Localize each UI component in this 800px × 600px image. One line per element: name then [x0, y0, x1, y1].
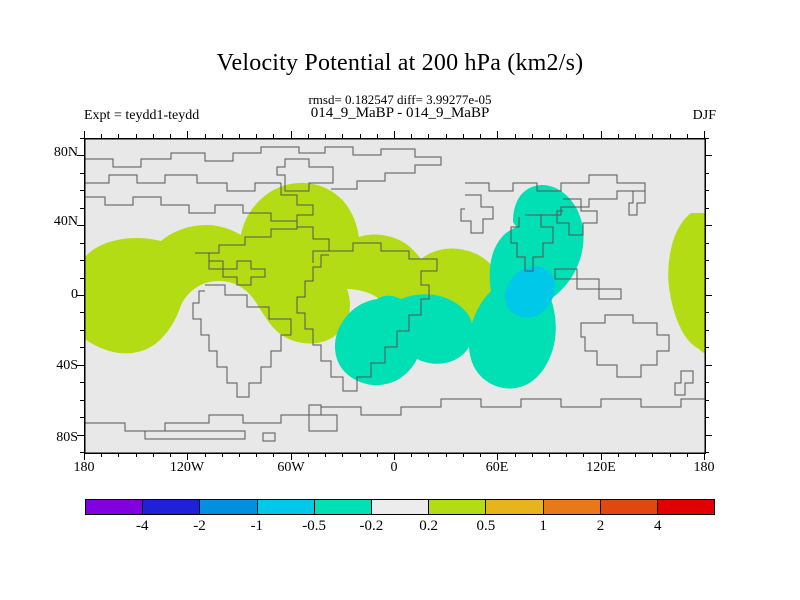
xtick-mark--60	[291, 453, 292, 460]
ytick-mark--50	[80, 382, 84, 383]
xtick-label-60w: 60W	[277, 460, 304, 476]
ytick-mark-right-80	[705, 155, 712, 156]
ytick-mark-right--60	[705, 400, 709, 401]
xtick-mark-150	[652, 453, 653, 457]
ytick-mark--10	[80, 312, 84, 313]
xtick-label-180w: 180	[74, 460, 95, 476]
xtick-mark--90	[239, 453, 240, 457]
ytick-label-40s: 40S	[56, 358, 78, 374]
xtick-label-120e: 120E	[586, 460, 616, 476]
xtick-mark-top--130	[170, 134, 171, 138]
xtick-mark--50	[308, 453, 309, 457]
ytick-mark-40	[77, 225, 84, 226]
xtick-mark--120	[187, 453, 188, 460]
ytick-mark-right--50	[705, 382, 709, 383]
ytick-mark--80	[77, 435, 84, 436]
xtick-mark--30	[342, 453, 343, 457]
ytick-mark-30	[80, 243, 84, 244]
xtick-mark-top-100	[566, 134, 567, 138]
ytick-mark-right-40	[705, 225, 712, 226]
colorbar-tick-neg1: -1	[251, 518, 264, 535]
colorbar-tick-2: 2	[597, 518, 605, 535]
xtick-mark-top-140	[635, 134, 636, 138]
colorbar-tick-0_2: 0.2	[419, 518, 438, 535]
ytick-mark-right-10	[705, 278, 709, 279]
xtick-mark-top-110	[583, 134, 584, 138]
colorbar-band-1	[142, 500, 199, 514]
ytick-mark--90	[80, 452, 84, 453]
xtick-mark-top--80	[256, 134, 257, 138]
xtick-mark-top-40	[463, 134, 464, 138]
colorbar-band-8	[543, 500, 600, 514]
ytick-mark-right-0	[705, 295, 712, 296]
xtick-mark-60	[497, 453, 498, 460]
xtick-mark-top-60	[497, 131, 498, 138]
ytick-mark-right--70	[705, 417, 709, 418]
xtick-mark-40	[463, 453, 464, 457]
xtick-mark-50	[480, 453, 481, 457]
colorbar-band-5	[371, 500, 428, 514]
page-title: Velocity Potential at 200 hPa (km2/s)	[0, 50, 800, 77]
xtick-mark--100	[222, 453, 223, 457]
colorbar-tick-neg2: -2	[193, 518, 206, 535]
xtick-mark--70	[273, 453, 274, 457]
xtick-mark--170	[101, 453, 102, 457]
colorbar-tick-neg0_2: -0.2	[359, 518, 383, 535]
ytick-mark-right--30	[705, 347, 709, 348]
xtick-mark-80	[532, 453, 533, 457]
xtick-mark--160	[118, 453, 119, 457]
xtick-label-180e: 180	[694, 460, 715, 476]
ytick-mark-80	[77, 155, 84, 156]
xtick-mark--130	[170, 453, 171, 457]
xtick-mark-top-30	[446, 134, 447, 138]
xtick-label-60e: 60E	[486, 460, 509, 476]
xtick-mark-120	[601, 453, 602, 460]
xtick-mark-100	[566, 453, 567, 457]
colorbar-band-0	[86, 500, 142, 514]
experiment-label: Expt = teydd1-teydd	[84, 108, 199, 124]
xtick-mark-top-150	[652, 134, 653, 138]
colorbar-band-6	[428, 500, 485, 514]
ytick-mark-right-30	[705, 243, 709, 244]
colorbar-band-9	[600, 500, 657, 514]
xtick-mark-70	[515, 453, 516, 457]
xtick-mark--80	[256, 453, 257, 457]
xtick-mark-top--10	[377, 134, 378, 138]
xtick-mark-10	[411, 453, 412, 457]
xtick-mark-0	[394, 453, 395, 460]
xtick-mark-top--60	[291, 131, 292, 138]
xtick-mark-top--70	[273, 134, 274, 138]
xtick-mark-top--120	[187, 131, 188, 138]
xtick-mark-130	[618, 453, 619, 457]
ytick-mark-right--80	[705, 435, 712, 436]
xtick-mark-top--110	[205, 134, 206, 138]
xtick-mark-top--180	[84, 131, 85, 138]
ytick-mark-right-90	[705, 138, 709, 139]
xtick-mark-140	[635, 453, 636, 457]
xtick-mark-110	[583, 453, 584, 457]
xtick-mark-top--150	[136, 134, 137, 138]
ytick-mark-50	[80, 208, 84, 209]
xtick-mark--180	[84, 453, 85, 460]
xtick-mark-top--20	[360, 134, 361, 138]
colorbar	[85, 499, 715, 515]
ytick-label-80s: 80S	[56, 430, 78, 446]
xtick-mark--10	[377, 453, 378, 457]
xtick-mark-top--140	[153, 134, 154, 138]
xtick-mark-top-80	[532, 134, 533, 138]
colorbar-band-3	[257, 500, 314, 514]
xtick-mark-top-160	[670, 134, 671, 138]
ytick-mark--40	[77, 365, 84, 366]
xtick-mark-top--40	[325, 134, 326, 138]
ytick-mark-10	[80, 278, 84, 279]
colorbar-tick-neg4: -4	[136, 518, 149, 535]
xtick-mark-top-0	[394, 131, 395, 138]
xtick-mark-top--100	[222, 134, 223, 138]
ytick-mark--30	[80, 347, 84, 348]
colorbar-band-4	[314, 500, 371, 514]
ytick-mark-right--20	[705, 330, 709, 331]
xtick-mark--40	[325, 453, 326, 457]
ytick-mark-right-20	[705, 260, 709, 261]
ytick-mark--60	[80, 400, 84, 401]
ytick-mark-70	[80, 173, 84, 174]
xtick-mark-top-180	[704, 131, 705, 138]
ytick-mark-90	[80, 138, 84, 139]
xtick-label-0: 0	[391, 460, 398, 476]
ytick-mark-60	[80, 190, 84, 191]
xtick-mark-top-120	[601, 131, 602, 138]
xtick-mark-90	[549, 453, 550, 457]
colorbar-tick-0_5: 0.5	[477, 518, 496, 535]
xtick-mark-top--170	[101, 134, 102, 138]
xtick-mark-top--30	[342, 134, 343, 138]
ytick-mark-right-60	[705, 190, 709, 191]
colorbar-tick-4: 4	[654, 518, 662, 535]
ytick-mark-right-70	[705, 173, 709, 174]
xtick-label-120w: 120W	[170, 460, 204, 476]
xtick-mark--150	[136, 453, 137, 457]
xtick-mark--110	[205, 453, 206, 457]
xtick-mark-top-130	[618, 134, 619, 138]
xtick-mark-top-10	[411, 134, 412, 138]
colorbar-band-2	[199, 500, 256, 514]
xtick-mark--20	[360, 453, 361, 457]
ytick-mark-right--10	[705, 312, 709, 313]
colorbar-band-10	[657, 500, 714, 514]
ytick-mark--70	[80, 417, 84, 418]
map-plot-area	[84, 138, 706, 454]
colorbar-tick-neg0_5: -0.5	[302, 518, 326, 535]
xtick-mark-180	[704, 453, 705, 460]
ytick-mark-right--40	[705, 365, 712, 366]
xtick-mark-30	[446, 453, 447, 457]
xtick-mark-160	[670, 453, 671, 457]
colorbar-tick-1: 1	[539, 518, 547, 535]
ytick-label-80n: 80N	[54, 145, 78, 161]
ytick-label-40n: 40N	[54, 214, 78, 230]
season-label: DJF	[693, 108, 716, 124]
ytick-mark--20	[80, 330, 84, 331]
xtick-mark-top-20	[428, 134, 429, 138]
xtick-mark-top-90	[549, 134, 550, 138]
xtick-mark-top-70	[515, 134, 516, 138]
colorbar-band-7	[485, 500, 542, 514]
ytick-mark-right--90	[705, 452, 709, 453]
xtick-mark-20	[428, 453, 429, 457]
xtick-mark-top--160	[118, 134, 119, 138]
velocity-potential-figure: Velocity Potential at 200 hPa (km2/s) rm…	[0, 0, 800, 600]
xtick-mark-top-170	[687, 134, 688, 138]
xtick-mark--140	[153, 453, 154, 457]
xtick-mark-170	[687, 453, 688, 457]
xtick-mark-top-50	[480, 134, 481, 138]
ytick-mark-0	[77, 295, 84, 296]
xtick-mark-top--50	[308, 134, 309, 138]
xtick-mark-top--90	[239, 134, 240, 138]
map-contour-svg	[85, 139, 705, 453]
ytick-mark-20	[80, 260, 84, 261]
ytick-mark-right-50	[705, 208, 709, 209]
